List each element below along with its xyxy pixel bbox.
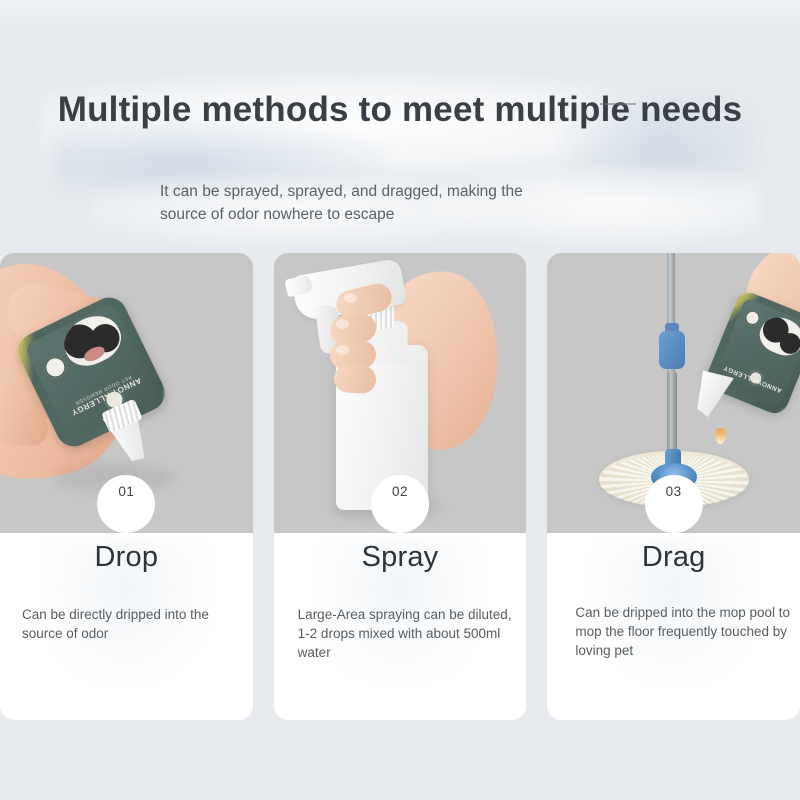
card-photo-spray: 02 <box>274 253 527 533</box>
card-number: 01 <box>118 484 134 499</box>
page-subtitle-line-1: It can be sprayed, sprayed, and dragged,… <box>160 180 630 203</box>
card-description-spray: Large-Area spraying can be diluted, 1-2 … <box>298 605 515 662</box>
page-title: Multiple methods to meet multiple needs <box>0 88 800 132</box>
fingernail-shape <box>344 293 357 303</box>
card-description-drag: Can be dripped into the mop pool to mop … <box>575 603 792 660</box>
card-photo-drag: ANNOY ALLERGY 03 <box>547 253 800 533</box>
card-number: 02 <box>392 484 408 499</box>
top-gradient-band <box>0 0 800 30</box>
card-title-spray: Spray <box>274 540 527 574</box>
promo-page: Multiple methods to meet multiple needs … <box>0 0 800 800</box>
page-subtitle-line-2: source of odor nowhere to escape <box>160 203 630 226</box>
method-card-drop[interactable]: ANNOY ALLERGY PET ODOR REMOVER 01 Drop C… <box>0 253 253 720</box>
dash-artifact <box>600 103 636 105</box>
hand-finger-shape <box>333 364 377 395</box>
fingernail-shape <box>336 319 349 329</box>
liquid-droplet-icon <box>715 428 726 444</box>
card-title-drop: Drop <box>0 540 253 574</box>
fingernail-shape <box>336 345 349 355</box>
dog-graphic-icon <box>755 311 800 361</box>
card-number-badge: 02 <box>371 475 429 533</box>
card-number-badge: 01 <box>97 475 155 533</box>
card-number: 03 <box>666 484 682 499</box>
page-subtitle: It can be sprayed, sprayed, and dragged,… <box>160 180 630 226</box>
method-card-drag[interactable]: ANNOY ALLERGY 03 Drag Can be dripped int… <box>547 253 800 720</box>
dog-graphic-icon <box>56 307 128 374</box>
card-description-drop: Can be directly dripped into the source … <box>22 605 237 643</box>
seal-badge-icon <box>742 307 763 328</box>
method-card-list: ANNOY ALLERGY PET ODOR REMOVER 01 Drop C… <box>0 253 800 720</box>
seal-badge-icon <box>41 353 70 382</box>
card-number-badge: 03 <box>645 475 703 533</box>
card-photo-drop: ANNOY ALLERGY PET ODOR REMOVER 01 <box>0 253 253 533</box>
bottle-label: ANNOY ALLERGY <box>712 298 800 408</box>
method-card-spray[interactable]: 02 Spray Large-Area spraying can be dilu… <box>274 253 527 720</box>
mop-grip-handle <box>659 331 685 369</box>
card-title-drag: Drag <box>547 540 800 574</box>
